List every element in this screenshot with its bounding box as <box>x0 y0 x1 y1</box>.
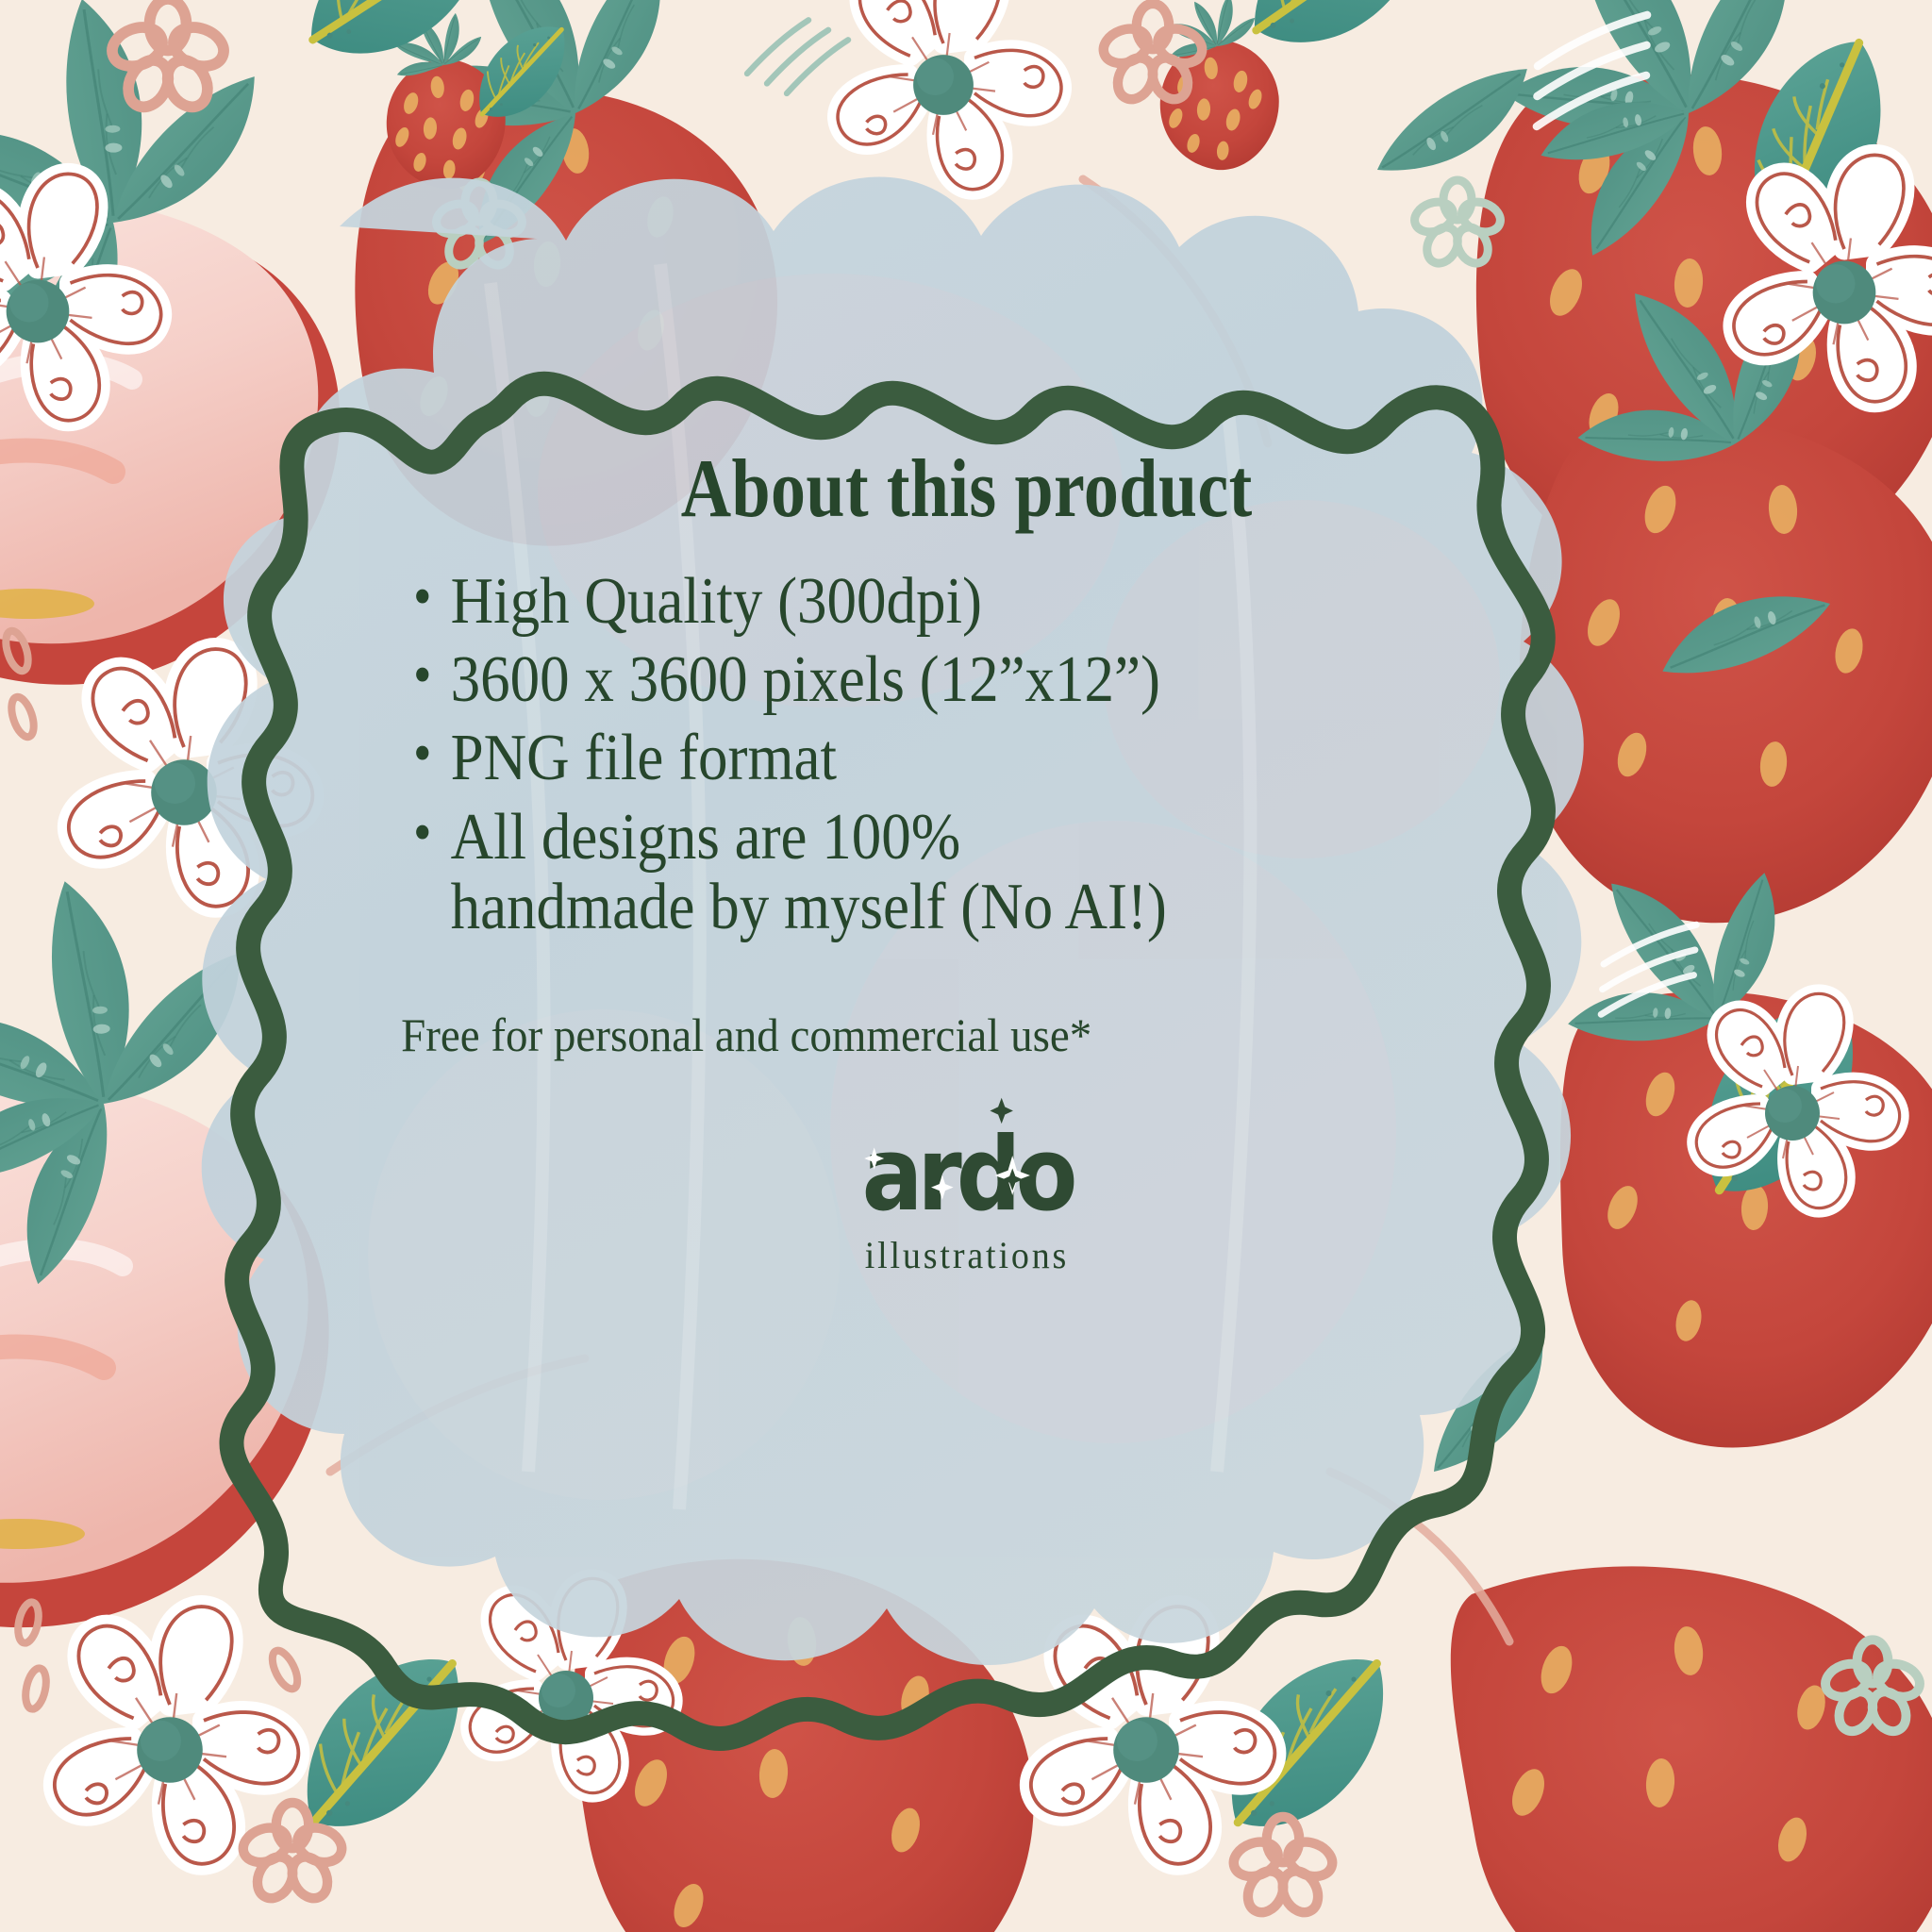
page-title: About this product <box>681 448 1253 531</box>
list-item: All designs are 100% handmade by myself … <box>413 803 1459 942</box>
feature-list: High Quality (300dpi) 3600 x 3600 pixels… <box>358 567 1575 951</box>
logo-wordmark: ardo <box>862 1124 1073 1225</box>
poster-canvas: About this product High Quality (300dpi)… <box>0 0 1932 1932</box>
logo-wordmark-text: ardo <box>862 1115 1073 1233</box>
list-item: PNG file format <box>413 724 1459 793</box>
list-item: High Quality (300dpi) <box>413 567 1459 637</box>
list-item: 3600 x 3600 pixels (12”x12”) <box>413 645 1459 715</box>
brand-logo: ardo illustrations <box>358 1129 1575 1277</box>
product-info-card: About this product High Quality (300dpi)… <box>358 368 1575 1528</box>
license-note: Free for personal and commercial use* <box>358 1009 1503 1061</box>
logo-subtitle: illustrations <box>865 1233 1069 1277</box>
